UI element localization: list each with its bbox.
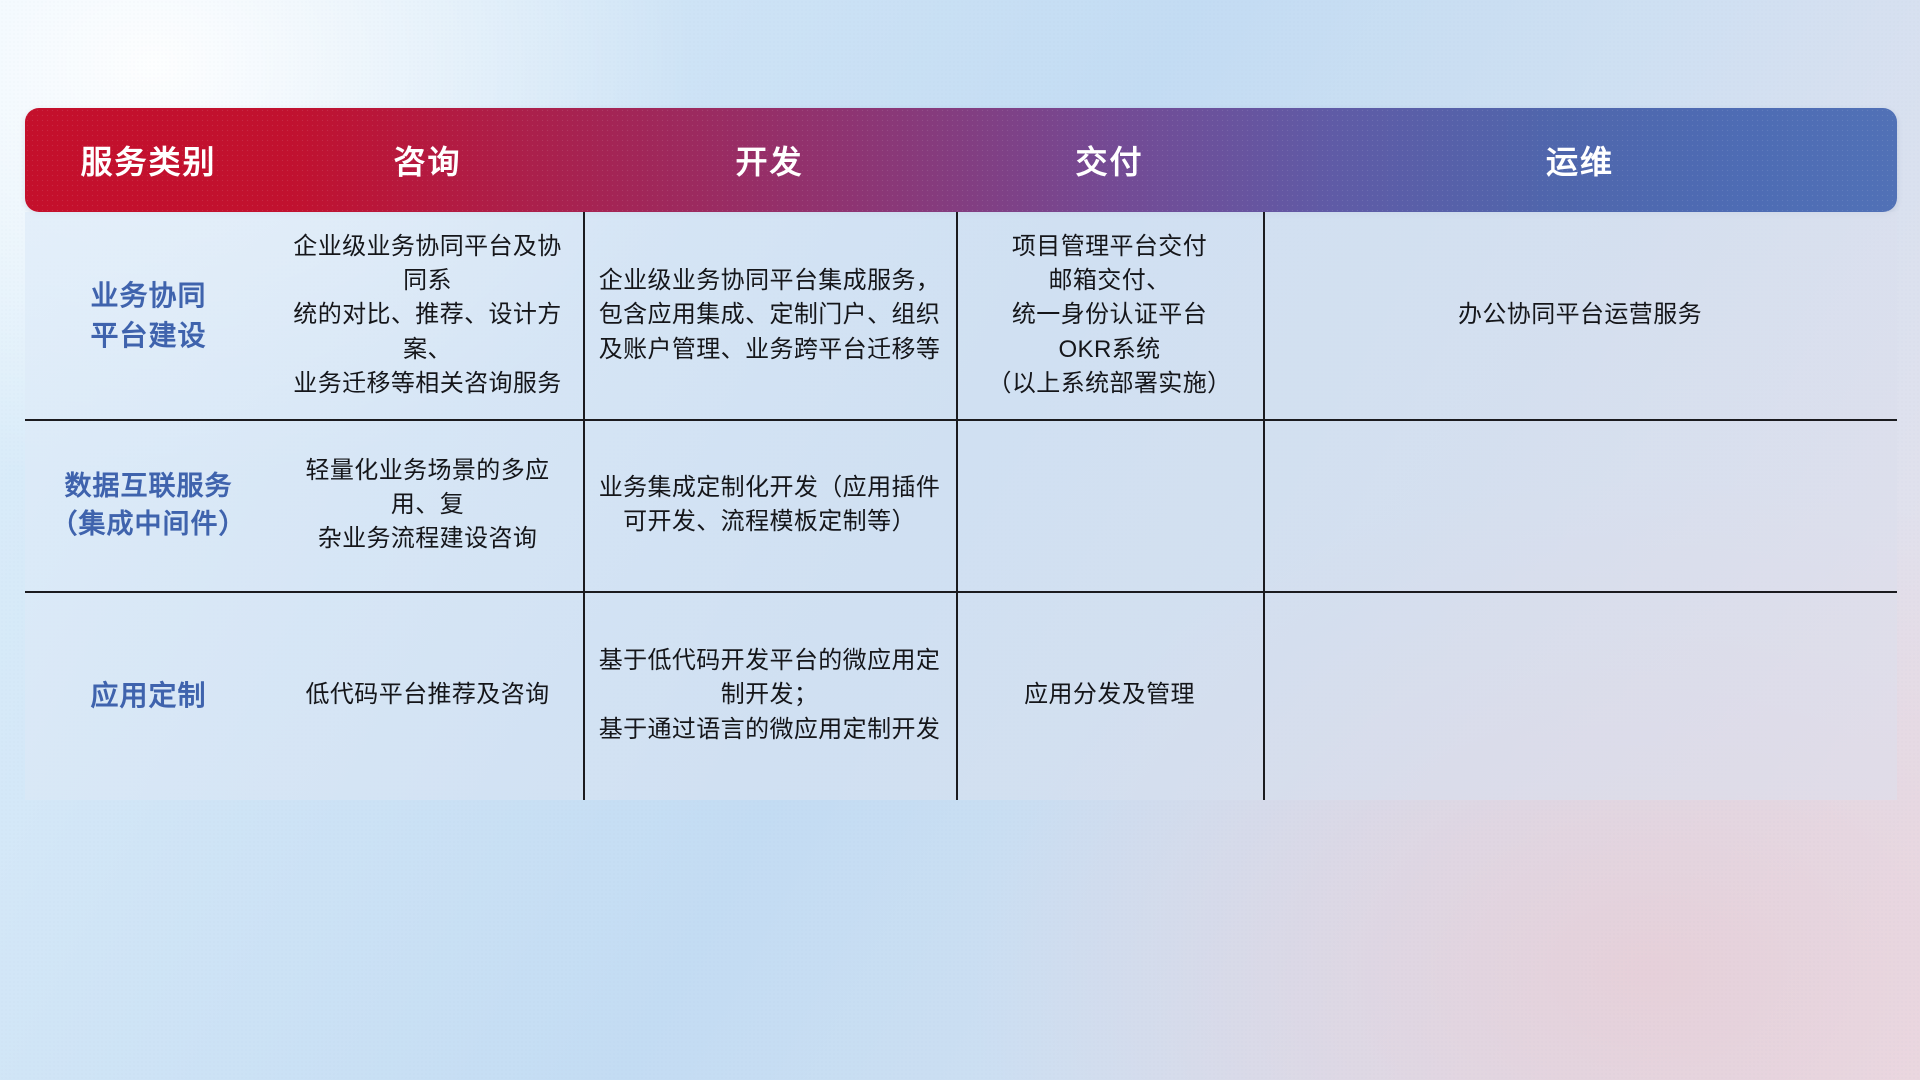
- cell-operations: [1263, 419, 1897, 591]
- cell-delivery: [956, 419, 1263, 591]
- cell-operations: [1263, 591, 1897, 800]
- cell-consulting: 企业级业务协同平台及协同系 统的对比、推荐、设计方案、 业务迁移等相关咨询服务: [272, 212, 583, 419]
- cell-text: 轻量化业务场景的多应用、复 杂业务流程建设咨询: [286, 454, 569, 556]
- row-divider-1: [25, 419, 1897, 421]
- column-header-consulting: 咨询: [272, 137, 583, 183]
- cell-text: 基于低代码开发平台的微应用定 制开发； 基于通过语言的微应用定制开发: [599, 644, 941, 746]
- row-label: 数据互联服务 （集成中间件）: [51, 467, 247, 544]
- column-divider-1: [583, 212, 585, 800]
- column-divider-3: [1263, 212, 1265, 800]
- cell-text: 企业级业务协同平台集成服务， 包含应用集成、定制门户、组织 及账户管理、业务跨平…: [599, 264, 941, 366]
- cell-consulting: 轻量化业务场景的多应用、复 杂业务流程建设咨询: [272, 419, 583, 591]
- column-header-development: 开发: [583, 137, 956, 183]
- row-label: 应用定制: [90, 676, 206, 716]
- cell-consulting: 低代码平台推荐及咨询: [272, 591, 583, 800]
- row-label-cell: 业务协同 平台建设: [25, 212, 272, 419]
- column-divider-2: [956, 212, 958, 800]
- service-matrix-table: 服务类别 咨询 开发 交付 运维 业务协同 平台建设 企业级业务协同平台及协同系…: [25, 108, 1897, 800]
- row-label: 业务协同 平台建设: [90, 276, 206, 356]
- cell-text: 企业级业务协同平台及协同系 统的对比、推荐、设计方案、 业务迁移等相关咨询服务: [286, 230, 569, 400]
- cell-development: 基于低代码开发平台的微应用定 制开发； 基于通过语言的微应用定制开发: [583, 591, 956, 800]
- cell-delivery: 应用分发及管理: [956, 591, 1263, 800]
- table-row: 应用定制 低代码平台推荐及咨询 基于低代码开发平台的微应用定 制开发； 基于通过…: [25, 591, 1897, 800]
- cell-text: 业务集成定制化开发（应用插件 可开发、流程模板定制等）: [599, 471, 941, 539]
- cell-text: 办公协同平台运营服务: [1458, 298, 1702, 332]
- table-header-row: 服务类别 咨询 开发 交付 运维: [25, 108, 1897, 212]
- table-row: 业务协同 平台建设 企业级业务协同平台及协同系 统的对比、推荐、设计方案、 业务…: [25, 212, 1897, 419]
- cell-text: 应用分发及管理: [1024, 678, 1195, 712]
- cell-development: 业务集成定制化开发（应用插件 可开发、流程模板定制等）: [583, 419, 956, 591]
- cell-development: 企业级业务协同平台集成服务， 包含应用集成、定制门户、组织 及账户管理、业务跨平…: [583, 212, 956, 419]
- cell-text: 项目管理平台交付 邮箱交付、 统一身份认证平台 OKR系统 （以上系统部署实施）: [988, 230, 1232, 400]
- column-header-operations: 运维: [1263, 137, 1897, 183]
- column-header-delivery: 交付: [956, 137, 1263, 183]
- row-label-cell: 数据互联服务 （集成中间件）: [25, 419, 272, 591]
- cell-operations: 办公协同平台运营服务: [1263, 212, 1897, 419]
- row-divider-2: [25, 591, 1897, 593]
- row-label-cell: 应用定制: [25, 591, 272, 800]
- table-row: 数据互联服务 （集成中间件） 轻量化业务场景的多应用、复 杂业务流程建设咨询 业…: [25, 419, 1897, 591]
- cell-delivery: 项目管理平台交付 邮箱交付、 统一身份认证平台 OKR系统 （以上系统部署实施）: [956, 212, 1263, 419]
- table-body: 业务协同 平台建设 企业级业务协同平台及协同系 统的对比、推荐、设计方案、 业务…: [25, 212, 1897, 800]
- cell-text: 低代码平台推荐及咨询: [306, 678, 550, 712]
- column-header-category: 服务类别: [25, 137, 272, 183]
